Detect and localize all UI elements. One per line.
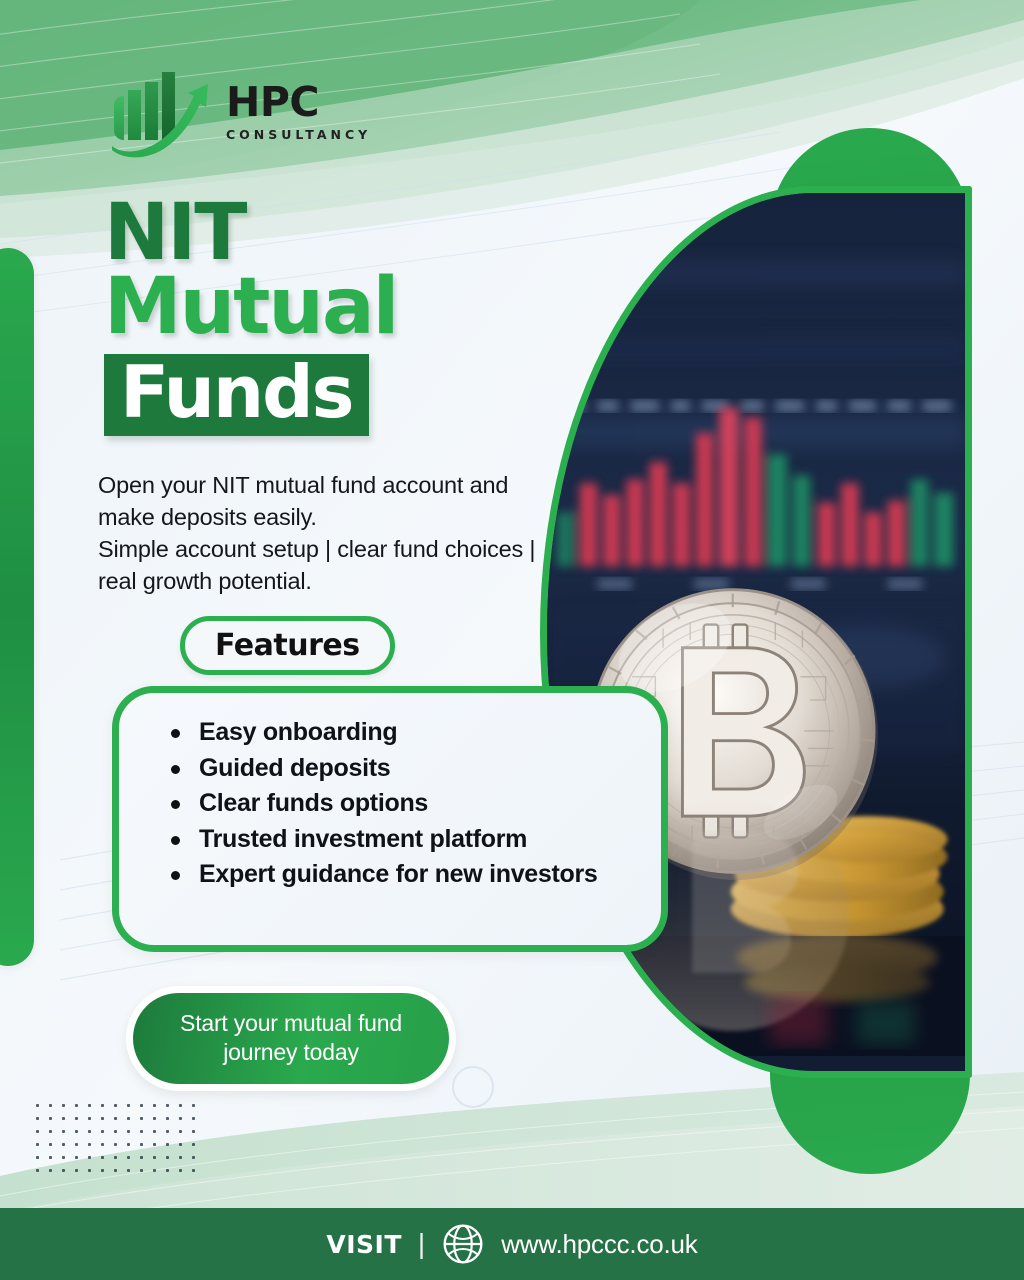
footer-url[interactable]: www.hpccc.co.uk xyxy=(501,1229,697,1260)
grid-dot xyxy=(127,1104,130,1107)
cta-button-wrapper: Start your mutual fund journey today xyxy=(126,986,456,1091)
logo-wordmark: HPC CONSULTANCY xyxy=(226,78,371,142)
grid-dot xyxy=(166,1104,169,1107)
brand-logo[interactable]: HPC CONSULTANCY xyxy=(96,58,396,162)
grid-dot xyxy=(114,1143,117,1146)
headline-line-2: Mutual xyxy=(104,272,574,344)
grid-dot xyxy=(75,1169,78,1172)
grid-dot xyxy=(192,1143,195,1146)
grid-dot xyxy=(62,1117,65,1120)
globe-icon xyxy=(441,1222,485,1266)
page-title: NIT Mutual Funds xyxy=(104,198,574,436)
grid-dot xyxy=(75,1143,78,1146)
grid-dot xyxy=(140,1156,143,1159)
left-accent-bar xyxy=(0,248,34,966)
grid-dot xyxy=(49,1117,52,1120)
dot-grid-decoration xyxy=(36,1104,205,1182)
circle-outline-decoration xyxy=(452,1066,494,1108)
grid-dot xyxy=(192,1169,195,1172)
list-item: Guided deposits xyxy=(167,751,661,787)
grid-dot xyxy=(62,1156,65,1159)
headline-line-3-box: Funds xyxy=(104,354,369,436)
grid-dot xyxy=(179,1143,182,1146)
headline-line-3: Funds xyxy=(120,358,353,426)
grid-dot xyxy=(153,1169,156,1172)
grid-dot xyxy=(49,1130,52,1133)
grid-dot xyxy=(114,1117,117,1120)
poster-canvas: HPC CONSULTANCY NIT Mutual Funds Open yo… xyxy=(0,0,1024,1280)
footer-separator: | xyxy=(418,1228,425,1260)
grid-dot xyxy=(179,1117,182,1120)
grid-dot xyxy=(192,1117,195,1120)
grid-dot xyxy=(166,1169,169,1172)
grid-dot xyxy=(140,1169,143,1172)
grid-dot xyxy=(192,1104,195,1107)
grid-dot xyxy=(101,1104,104,1107)
grid-dot xyxy=(166,1130,169,1133)
list-item: Expert guidance for new investors xyxy=(167,857,661,893)
grid-dot xyxy=(114,1156,117,1159)
grid-dot xyxy=(62,1130,65,1133)
grid-dot xyxy=(127,1156,130,1159)
grid-dot xyxy=(62,1169,65,1172)
grid-dot xyxy=(101,1117,104,1120)
grid-dot xyxy=(179,1130,182,1133)
grid-dot xyxy=(49,1104,52,1107)
features-badge: Features xyxy=(180,616,395,675)
body-paragraph-2: Simple account setup | clear fund choice… xyxy=(98,534,568,598)
body-copy: Open your NIT mutual fund account and ma… xyxy=(98,470,568,598)
grid-dot xyxy=(49,1169,52,1172)
grid-dot xyxy=(114,1130,117,1133)
grid-dot xyxy=(114,1169,117,1172)
footer-visit-label: VISIT xyxy=(326,1230,402,1259)
grid-dot xyxy=(88,1117,91,1120)
grid-dot xyxy=(36,1104,39,1107)
footer-bar: VISIT | www.hpccc.co.uk xyxy=(0,1208,1024,1280)
grid-dot xyxy=(127,1143,130,1146)
grid-dot xyxy=(62,1104,65,1107)
grid-dot xyxy=(140,1117,143,1120)
grid-dot xyxy=(101,1169,104,1172)
list-item: Clear funds options xyxy=(167,786,661,822)
grid-dot xyxy=(88,1143,91,1146)
grid-dot xyxy=(153,1143,156,1146)
grid-dot xyxy=(127,1117,130,1120)
grid-dot xyxy=(140,1104,143,1107)
grid-dot xyxy=(88,1104,91,1107)
grid-dot xyxy=(166,1117,169,1120)
grid-dot xyxy=(36,1169,39,1172)
bar-chart-growth-arrow-icon xyxy=(96,62,216,158)
grid-dot xyxy=(101,1130,104,1133)
grid-dot xyxy=(166,1156,169,1159)
grid-dot xyxy=(179,1169,182,1172)
grid-dot xyxy=(101,1156,104,1159)
grid-dot xyxy=(49,1156,52,1159)
grid-dot xyxy=(114,1104,117,1107)
grid-dot xyxy=(127,1130,130,1133)
logo-tagline: CONSULTANCY xyxy=(226,127,371,142)
grid-dot xyxy=(36,1130,39,1133)
grid-dot xyxy=(166,1143,169,1146)
grid-dot xyxy=(88,1130,91,1133)
grid-dot xyxy=(127,1169,130,1172)
grid-dot xyxy=(140,1130,143,1133)
grid-dot xyxy=(75,1117,78,1120)
grid-dot xyxy=(75,1156,78,1159)
grid-dot xyxy=(49,1143,52,1146)
grid-dot xyxy=(153,1104,156,1107)
headline-line-1: NIT xyxy=(104,198,574,270)
grid-dot xyxy=(153,1156,156,1159)
list-item: Easy onboarding xyxy=(167,715,661,751)
grid-dot xyxy=(140,1143,143,1146)
logo-title: HPC xyxy=(226,84,371,122)
start-journey-button[interactable]: Start your mutual fund journey today xyxy=(133,993,449,1084)
grid-dot xyxy=(36,1143,39,1146)
grid-dot xyxy=(36,1156,39,1159)
grid-dot xyxy=(153,1117,156,1120)
list-item: Trusted investment platform xyxy=(167,822,661,858)
body-paragraph-1: Open your NIT mutual fund account and ma… xyxy=(98,470,568,534)
grid-dot xyxy=(88,1156,91,1159)
grid-dot xyxy=(88,1169,91,1172)
grid-dot xyxy=(192,1156,195,1159)
grid-dot xyxy=(101,1143,104,1146)
grid-dot xyxy=(153,1130,156,1133)
grid-dot xyxy=(75,1104,78,1107)
grid-dot xyxy=(192,1130,195,1133)
grid-dot xyxy=(179,1156,182,1159)
grid-dot xyxy=(75,1130,78,1133)
grid-dot xyxy=(36,1117,39,1120)
grid-dot xyxy=(62,1143,65,1146)
features-list: Easy onboarding Guided deposits Clear fu… xyxy=(167,715,661,893)
grid-dot xyxy=(179,1104,182,1107)
features-box: Easy onboarding Guided deposits Clear fu… xyxy=(112,686,668,952)
